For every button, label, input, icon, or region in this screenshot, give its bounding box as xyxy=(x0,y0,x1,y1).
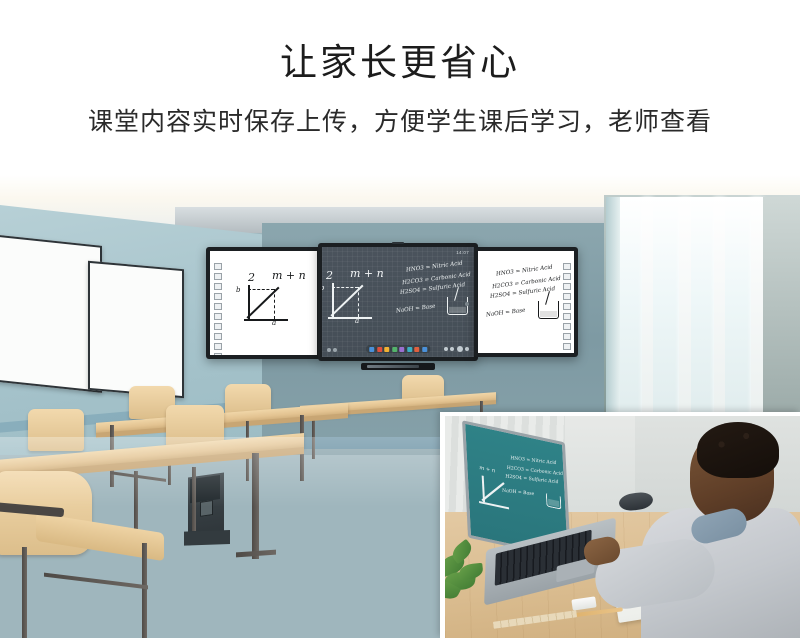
promo-page: 让家长更省心 课堂内容实时保存上传，方便学生课后学习，老师查看 xyxy=(0,0,800,638)
laptop-chem-4: NaOH = Base xyxy=(502,489,535,499)
save-icon[interactable] xyxy=(214,353,222,355)
inset-photo-student: HNO3 = Nitric Acid H2CO3 = Carbonic Acid… xyxy=(440,412,800,638)
laptop-math: m + n xyxy=(479,465,495,474)
apps-icon[interactable] xyxy=(422,347,427,352)
board-left-axis-y-label: b xyxy=(236,286,240,294)
image-icon[interactable] xyxy=(414,347,419,352)
laptop-chem-1: HNO3 = Nitric Acid xyxy=(510,456,557,467)
board-left-expr-right: m + n xyxy=(272,269,306,282)
board-center-left-controls[interactable] xyxy=(327,348,337,352)
page-prev-icon[interactable] xyxy=(444,347,448,351)
palette-icon[interactable] xyxy=(384,347,389,352)
board-side-handle-icon[interactable] xyxy=(465,302,469,306)
text-icon[interactable] xyxy=(214,313,222,320)
menu-icon[interactable] xyxy=(465,347,469,351)
eraser-icon[interactable] xyxy=(563,293,571,300)
redo-icon[interactable] xyxy=(563,333,571,340)
eraser-icon[interactable] xyxy=(399,347,404,352)
wall-whiteboard-1 xyxy=(0,234,102,393)
clear-icon[interactable] xyxy=(563,343,571,350)
board-left-expr-left: 2 xyxy=(248,271,255,284)
shape-icon[interactable] xyxy=(563,303,571,310)
board-center-axis-x-label: a xyxy=(355,317,359,325)
smart-board-cluster: 2 m + n b a 14:07 2 m + n xyxy=(206,247,578,364)
board-center-right-controls[interactable] xyxy=(444,346,470,352)
text-icon[interactable] xyxy=(563,313,571,320)
board-center-soundbar xyxy=(361,363,435,370)
pen-icon[interactable] xyxy=(369,347,374,352)
redo-icon[interactable] xyxy=(214,333,222,340)
page-subtitle: 课堂内容实时保存上传，方便学生课后学习，老师查看 xyxy=(0,107,800,139)
shape-icon[interactable] xyxy=(407,347,412,352)
board-panel-left[interactable]: 2 m + n b a xyxy=(206,247,321,359)
shape-icon[interactable] xyxy=(214,303,222,310)
clear-icon[interactable] xyxy=(214,343,222,350)
undo-icon[interactable] xyxy=(563,323,571,330)
marker-icon[interactable] xyxy=(377,347,382,352)
board-center-chem-4: NaOH = Base xyxy=(396,303,436,317)
board-right-tool-strip[interactable] xyxy=(563,263,570,353)
header-block: 让家长更省心 课堂内容实时保存上传，方便学生课后学习，老师查看 xyxy=(0,0,800,175)
board-left-tool-strip[interactable] xyxy=(214,263,221,355)
board-right-chem-4: NaOH = Base xyxy=(486,307,526,321)
eraser-icon[interactable] xyxy=(214,293,222,300)
board-center-expr-left: 2 xyxy=(326,269,333,282)
board-panel-center[interactable]: 14:07 2 m + n b a HNO3 = Nitric Acid H2C… xyxy=(318,243,478,361)
beaker-drawing xyxy=(447,297,468,315)
text-icon[interactable] xyxy=(392,347,397,352)
classroom-photo: 2 m + n b a 14:07 2 m + n xyxy=(0,175,800,638)
beaker-drawing xyxy=(538,301,559,319)
board-panel-right[interactable]: HNO3 = Nitric Acid H2CO3 = Carbonic Acid… xyxy=(474,247,578,357)
highlighter-icon[interactable] xyxy=(214,283,222,290)
home-icon[interactable] xyxy=(327,348,331,352)
select-icon[interactable] xyxy=(563,263,571,270)
back-icon[interactable] xyxy=(333,348,337,352)
student-hair xyxy=(697,422,779,478)
board-center-axis-y-label: b xyxy=(322,284,324,292)
board-center-toolbar[interactable] xyxy=(366,345,430,353)
board-center-expr-right: m + n xyxy=(350,267,384,280)
board-left-axis-x-label: a xyxy=(272,319,276,327)
wall-whiteboard-2 xyxy=(88,261,184,398)
pen-icon[interactable] xyxy=(214,273,222,280)
board-clock: 14:07 xyxy=(456,250,469,255)
pen-icon[interactable] xyxy=(563,273,571,280)
page-dot-icon[interactable] xyxy=(450,347,454,351)
page-title: 让家长更省心 xyxy=(0,42,800,86)
select-icon[interactable] xyxy=(214,263,222,270)
potted-plant xyxy=(445,536,499,606)
laptop-beaker xyxy=(546,493,562,509)
page-next-icon[interactable] xyxy=(457,346,463,352)
undo-icon[interactable] xyxy=(214,323,222,330)
highlighter-icon[interactable] xyxy=(563,283,571,290)
board-camera-icon xyxy=(392,242,404,244)
